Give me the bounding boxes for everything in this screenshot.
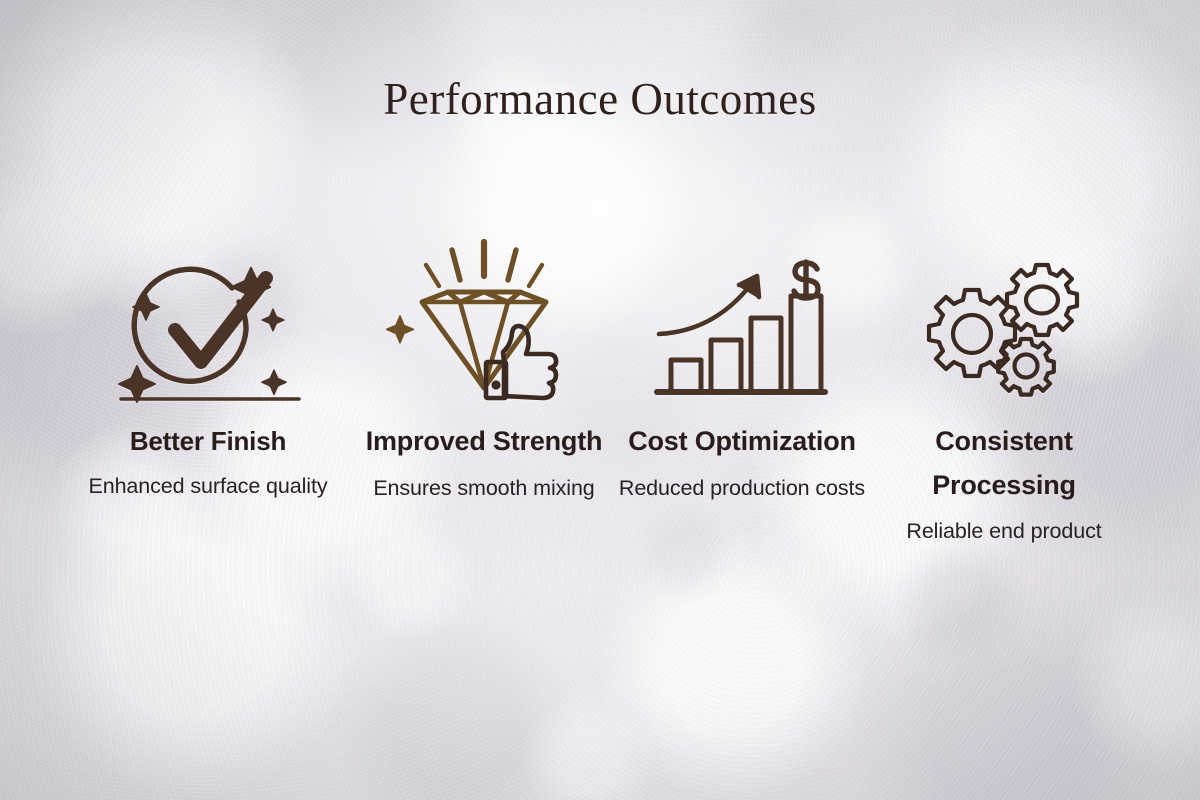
outcome-column-better-finish: Better Finish Enhanced surface quality [63, 236, 353, 508]
outcome-column-cost-optimization: Cost Optimization Reduced production cos… [617, 236, 867, 509]
outcome-subtext: Reliable end product [906, 510, 1101, 553]
outcome-subtext: Enhanced surface quality [88, 465, 327, 508]
outcome-columns: Better Finish Enhanced surface quality [0, 236, 1200, 616]
diamond-thumbs-up-icon [386, 236, 582, 404]
page-title: Performance Outcomes [0, 76, 1200, 123]
outcome-subtext: Ensures smooth mixing [373, 467, 594, 510]
outcome-column-improved-strength: Improved Strength Ensures smooth mixing [359, 236, 609, 509]
outcome-heading: Cost Optimization [628, 420, 856, 464]
outcome-subtext: Reduced production costs [619, 467, 865, 510]
growth-chart-dollar-icon [653, 236, 831, 404]
outcome-heading: Consistent Processing [879, 420, 1129, 507]
gears-icon [914, 236, 1094, 404]
outcome-column-consistent-processing: Consistent Processing Reliable end produ… [879, 236, 1129, 553]
check-circle-sparkle-icon [113, 236, 303, 404]
slide-canvas: Performance Outcomes [0, 0, 1200, 800]
outcome-heading: Improved Strength [366, 420, 603, 464]
outcome-heading: Better Finish [130, 420, 286, 462]
